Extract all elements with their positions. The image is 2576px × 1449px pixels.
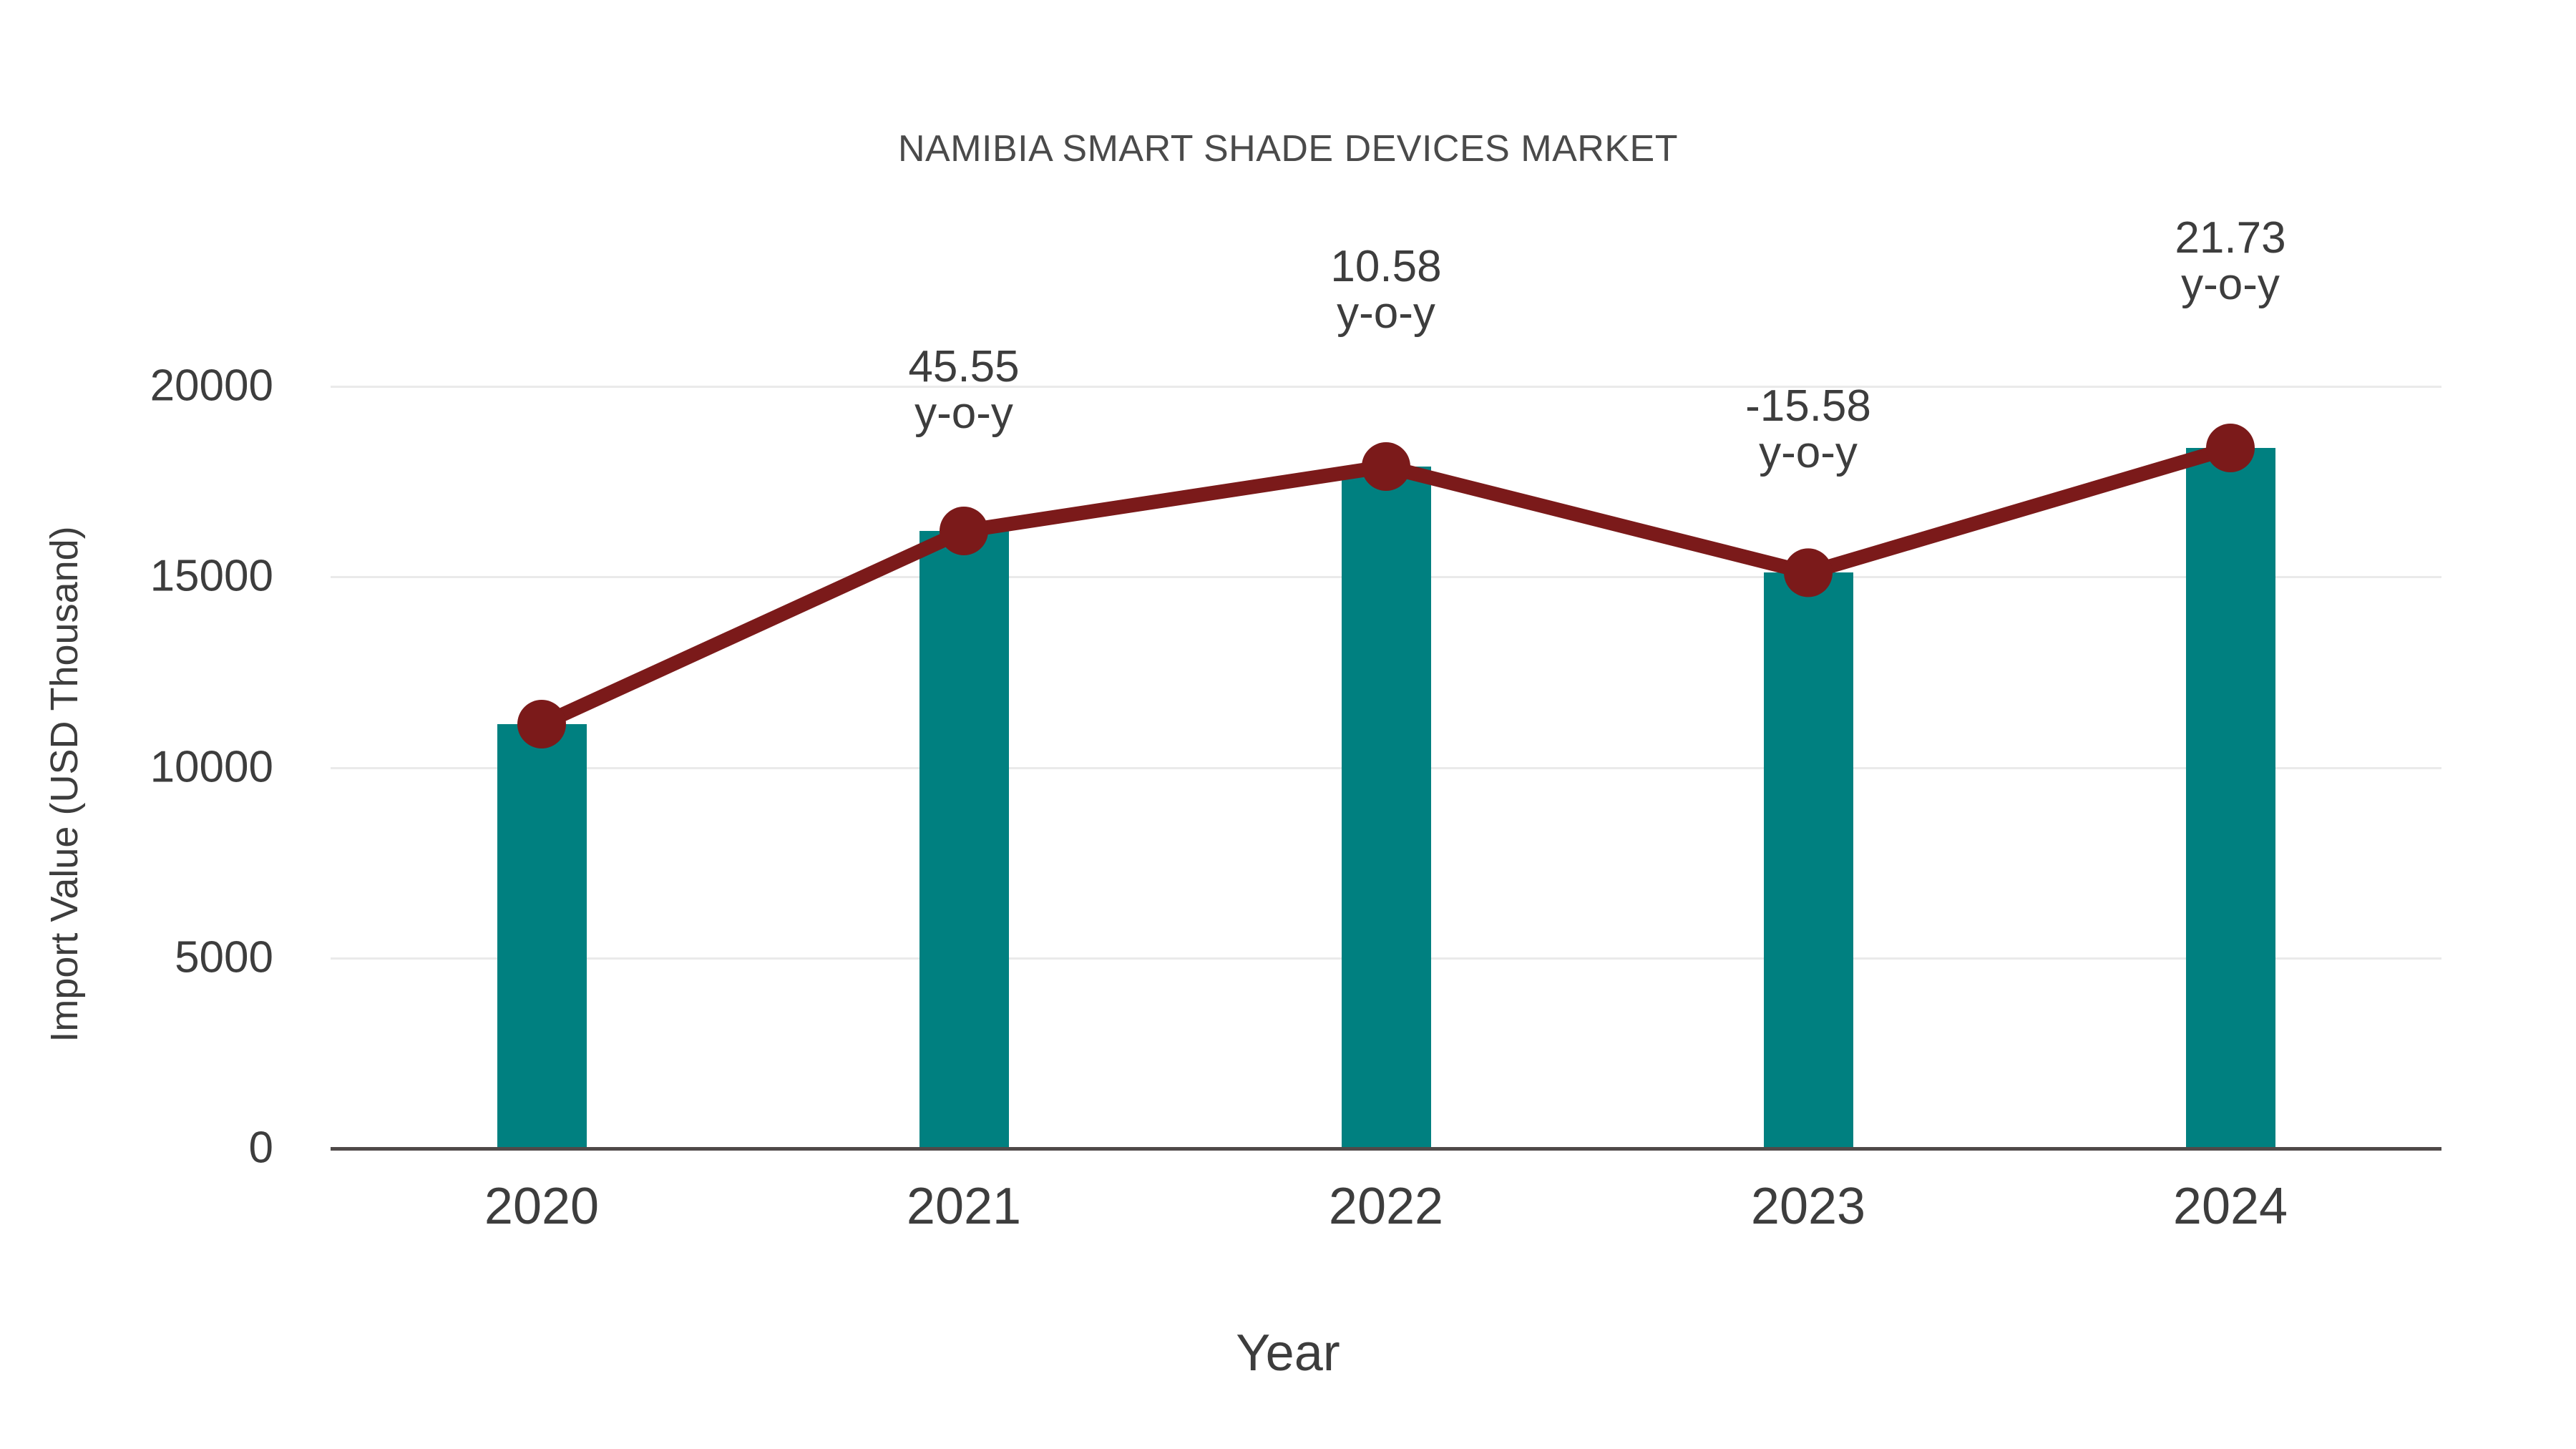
value-annotation: 21.73y-o-y [2080, 215, 2381, 308]
bar [1764, 572, 1853, 1148]
y-tick-label: 15000 [0, 551, 273, 602]
x-axis-line [331, 1147, 2441, 1151]
bar [919, 531, 1009, 1148]
annotation-value: 21.73 [2080, 215, 2381, 261]
bar [497, 724, 587, 1148]
annotation-unit: y-o-y [2080, 261, 2381, 308]
x-tick-label: 2023 [1665, 1177, 1951, 1236]
plot-area [331, 386, 2441, 1148]
bar [2186, 448, 2275, 1148]
x-tick-label: 2021 [821, 1177, 1107, 1236]
x-tick-label: 2022 [1243, 1177, 1529, 1236]
y-tick-label: 20000 [0, 361, 273, 411]
x-axis-title: Year [0, 1324, 2576, 1382]
y-tick-label: 10000 [0, 741, 273, 792]
bar [1342, 467, 1431, 1148]
chart-container: NAMIBIA SMART SHADE DEVICES MARKET Impor… [0, 0, 2576, 1449]
x-tick-label: 2020 [399, 1177, 685, 1236]
value-annotation: 10.58y-o-y [1236, 243, 1536, 336]
gridline [331, 386, 2441, 388]
x-tick-label: 2024 [2087, 1177, 2373, 1236]
annotation-unit: y-o-y [1236, 290, 1536, 336]
y-tick-label: 5000 [0, 932, 273, 982]
annotation-value: 10.58 [1236, 243, 1536, 290]
annotation-value: 45.55 [814, 343, 1114, 390]
y-tick-label: 0 [0, 1123, 273, 1174]
chart-title: NAMIBIA SMART SHADE DEVICES MARKET [0, 127, 2576, 170]
